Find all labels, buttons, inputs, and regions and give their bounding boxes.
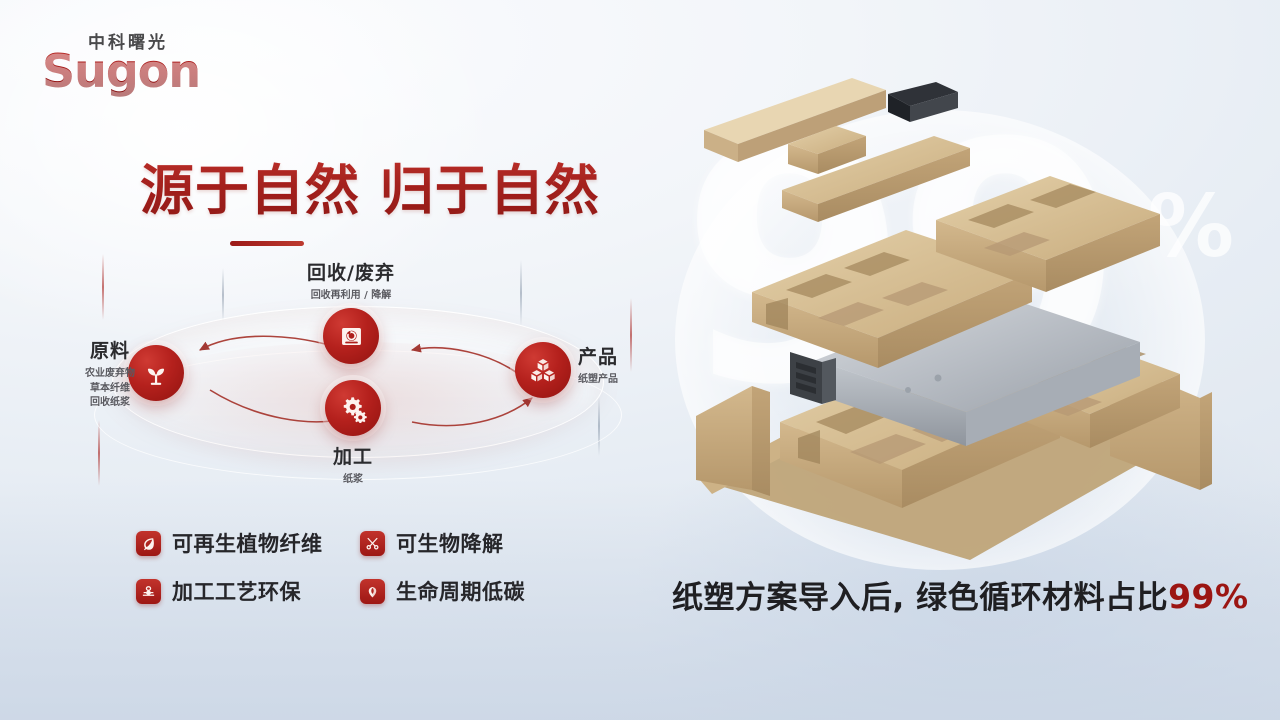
summary-caption: 纸塑方案导入后, 绿色循环材料占比99% — [672, 572, 1249, 617]
page-title-text: 源于自然 归于自然 — [140, 146, 600, 225]
cycle-label-material-title: 原料 — [50, 336, 170, 363]
feature-item-low-carbon-lifecycle[interactable]: 生命周期低碳 — [360, 576, 566, 606]
exploded-packaging-illustration — [640, 60, 1280, 580]
recycle-box-icon — [338, 323, 365, 350]
cycle-label-recycle-title: 回收/废弃 — [243, 258, 459, 285]
summary-caption-percent: 99% — [1168, 577, 1249, 616]
cycle-node-process[interactable] — [325, 380, 381, 436]
title-underline — [230, 241, 304, 246]
cycle-label-process-title: 加工 — [292, 442, 414, 469]
cycle-label-material: 原料 农业废弃物 草本纤维 回收纸浆 — [50, 336, 170, 411]
cycle-label-recycle: 回收/废弃 回收再利用 / 降解 — [243, 258, 459, 304]
feature-item-renewable-fiber[interactable]: 可再生植物纤维 — [136, 528, 360, 558]
cycle-node-product[interactable] — [515, 342, 571, 398]
feature-item-eco-process[interactable]: 加工工艺环保 — [136, 576, 360, 606]
slide-root: 中科曙光 Sugon 源于自然 归于自然 — [0, 0, 1280, 720]
feature-label: 加工工艺环保 — [172, 576, 301, 606]
cycle-node-recycle[interactable] — [323, 308, 379, 364]
cycle-label-recycle-subtitle: 回收再利用 / 降解 — [243, 289, 459, 304]
lifecycle-diagram: 原料 农业废弃物 草本纤维 回收纸浆 回收/废弃 回收再利用 / 降解 — [60, 250, 680, 500]
cycle-label-process-subtitle: 纸浆 — [292, 473, 414, 488]
feature-label: 生命周期低碳 — [396, 576, 525, 606]
product-visual: 99 % — [640, 60, 1280, 580]
brand-logo: 中科曙光 Sugon — [42, 28, 282, 100]
eco-process-icon — [136, 579, 161, 604]
feature-label: 可生物降解 — [396, 528, 504, 558]
brand-logo-en: Sugon — [42, 44, 200, 98]
gears-icon — [339, 394, 368, 423]
feature-label: 可再生植物纤维 — [172, 528, 323, 558]
feature-item-biodegradable[interactable]: 可生物降解 — [360, 528, 566, 558]
leaf-icon — [136, 531, 161, 556]
cycle-label-material-subtitle: 农业废弃物 草本纤维 回收纸浆 — [50, 367, 170, 411]
lifecycle-icon — [360, 579, 385, 604]
cycle-label-process: 加工 纸浆 — [292, 442, 414, 488]
boxes-icon — [529, 356, 557, 384]
page-title: 源于自然 归于自然 — [140, 146, 600, 246]
summary-caption-text: 纸塑方案导入后, 绿色循环材料占比 — [672, 580, 1168, 616]
scissors-icon — [360, 531, 385, 556]
feature-list: 可再生植物纤维 可生物降解 加工工艺环保 — [136, 528, 566, 606]
